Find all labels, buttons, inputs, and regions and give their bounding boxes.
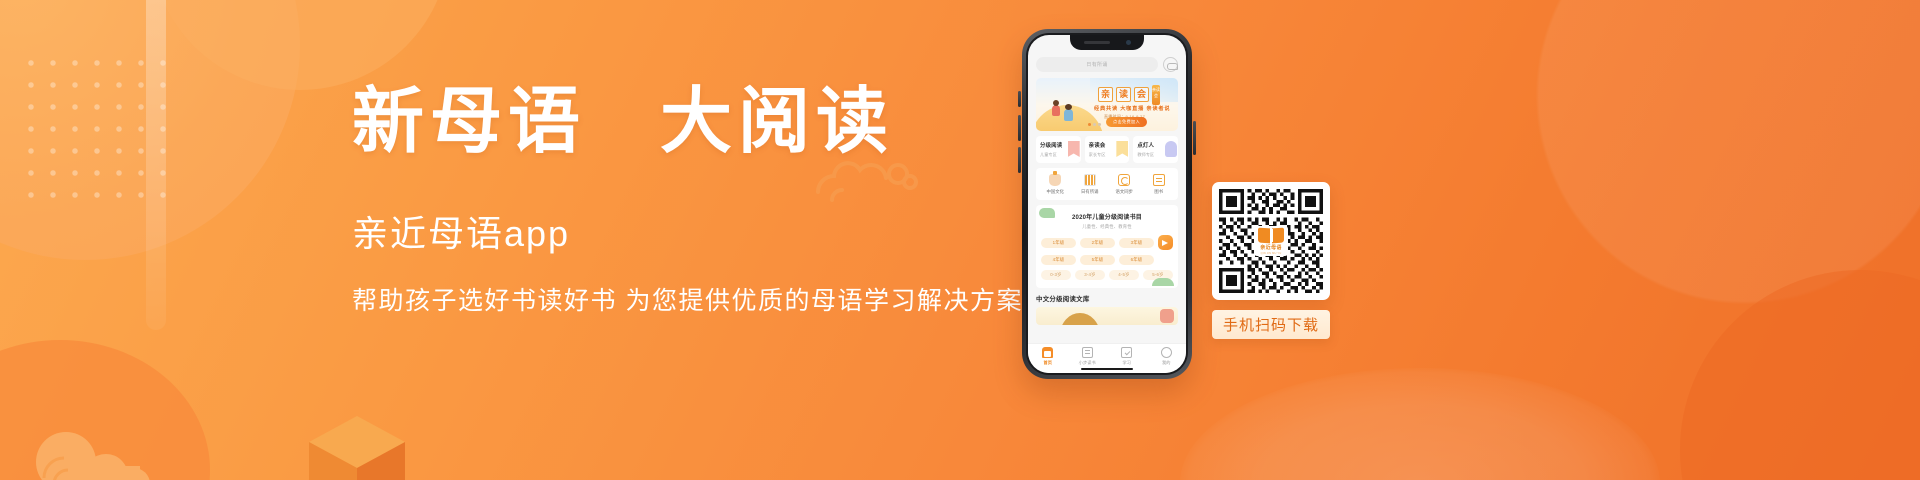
banner-copy: 新母语 大阅读 亲近母语app 帮助孩子选好书读好书 为您提供优质的母语学习解决… [352,86,1052,318]
decor-circle-bottom-right [1680,270,1920,480]
tab-label: 学习 [1107,360,1147,366]
qr-block: 亲近母语 QIN JIN MU YU 手机扫码下载 [1212,182,1330,339]
hero-title-char-2: 读 [1116,87,1131,102]
headline: 新母语 大阅读 [352,86,1052,158]
phone-volume-up-button [1018,115,1021,141]
phone-power-button [1193,121,1196,155]
hero-side-tag: 亲读会 [1152,85,1160,105]
quick-link-label: 日有所诵 [1073,189,1108,195]
phone-mute-switch [1018,91,1021,107]
qr-code-image: 亲近母语 QIN JIN MU YU [1219,189,1323,293]
age-chip[interactable]: 3-4岁 [1075,270,1105,280]
lantern-icon [1049,174,1061,186]
grade-chip[interactable]: 2年级 [1080,238,1115,248]
decor-circle-top-left-2 [150,0,450,90]
scan-to-download-button[interactable]: 手机扫码下载 [1212,310,1330,339]
tab-profile[interactable]: 我的 [1147,347,1187,366]
hero-title-char-1: 亲 [1098,87,1113,102]
grade-chip[interactable]: 5年级 [1080,255,1115,265]
app-tab-bar: 首页 小步读书 学习 我的 [1028,343,1186,373]
search-placeholder: 日有所诵 [1086,61,1107,68]
phone-mockup: 日有所诵 亲 读 会 [1022,29,1192,379]
decor-vertical-stripe [146,0,166,330]
category-card-parent-club[interactable]: 亲读会 家长专区 [1085,136,1130,163]
grade-chip[interactable]: 1年级 [1041,238,1076,248]
tab-study[interactable]: 学习 [1107,347,1147,366]
age-chip[interactable]: 4-5岁 [1109,270,1139,280]
user-icon [1161,347,1172,358]
tagline: 帮助孩子选好书读好书 为您提供优质的母语学习解决方案 [352,285,1052,318]
headline-right: 大阅读 [660,82,894,162]
app-home-screen: 日有所诵 亲 读 会 [1028,35,1186,373]
grade-chip[interactable]: 6年级 [1119,255,1154,265]
category-card-teacher[interactable]: 点灯人 教师专区 [1133,136,1178,163]
tab-label: 首页 [1028,360,1068,366]
carousel-dot[interactable] [1098,123,1101,126]
phone-screen: 日有所诵 亲 读 会 [1028,35,1186,373]
decor-ring-right [1510,0,1920,330]
grade-chip[interactable]: 4年级 [1041,255,1076,265]
decor-dot-grid [20,52,170,202]
decor-circle-bottom-left [0,340,210,480]
quick-link-books[interactable]: 图书 [1142,174,1177,195]
decor-ground-glow [1180,368,1660,480]
quick-link-label: 图书 [1142,189,1177,195]
hero-join-button[interactable]: 点击免费加入 [1106,117,1147,127]
section-title-library: 中文分级阅读文库 [1036,294,1178,303]
open-book-icon [1084,174,1096,186]
app-graded-booklist-card: 2020年儿童分级阅读书目 儿童性、经典性、教育性 1年级 2年级 3年级 4年… [1036,205,1178,288]
app-search-row: 日有所诵 [1036,57,1178,72]
brand-pinyin: QIN JIN MU YU [1261,252,1282,255]
hero-child-1 [1052,105,1060,116]
phone-speaker [1084,41,1110,44]
decor-cube [305,410,409,480]
home-indicator [1081,368,1133,371]
quick-link-chinese-culture[interactable]: 中国文化 [1038,174,1073,195]
grade-chip[interactable]: 3年级 [1119,238,1154,248]
phone-bezel: 日有所诵 亲 读 会 [1026,33,1188,375]
phone-notch [1070,35,1144,50]
carousel-dot[interactable] [1088,123,1091,126]
tab-home[interactable]: 首页 [1028,347,1068,366]
booklist-title: 2020年儿童分级阅读书目 [1041,212,1173,221]
phone-front-camera [1126,40,1131,45]
home-icon [1042,347,1053,358]
cloud-icon-bottom-left [30,426,170,480]
brand-name: 亲近母语 [1260,244,1282,251]
carousel-dot[interactable] [1093,123,1096,126]
decor-circle-top-left [0,0,300,260]
app-hero-banner[interactable]: 亲 读 会 亲读会 经典共读 大咖直播 亲读者说 直播时间：9.16-9.27 … [1036,78,1178,131]
quick-link-daily-recitation[interactable]: 日有所诵 [1073,174,1108,195]
hero-title: 亲 读 会 [1098,87,1149,102]
tab-label: 小步读书 [1068,360,1108,366]
books-icon [1153,174,1165,186]
booklist-subtitle: 儿童性、经典性、教育性 [1041,224,1173,230]
brand-logo: 亲近母语 QIN JIN MU YU [1254,226,1288,256]
category-card-graded-reading[interactable]: 分级阅读 儿童专区 [1036,136,1081,163]
headline-left: 新母语 [352,82,586,162]
grade-row-2: 4年级 5年级 6年级 [1041,255,1173,265]
promo-banner: 新母语 大阅读 亲近母语app 帮助孩子选好书读好书 为您提供优质的母语学习解决… [0,0,1920,480]
search-input[interactable]: 日有所诵 [1036,57,1158,72]
play-video-button[interactable] [1158,235,1173,250]
notebook-icon [1082,347,1093,358]
app-quick-links: 中国文化 日有所诵 语文同步 图书 [1036,168,1178,200]
qr-code-card[interactable]: 亲近母语 QIN JIN MU YU [1212,182,1330,300]
hero-carousel-dots[interactable] [1088,123,1101,126]
library-preview-card[interactable] [1036,307,1178,325]
sync-icon [1118,174,1130,186]
app-category-cards: 分级阅读 儿童专区 亲读会 家长专区 点灯人 教师专区 [1036,136,1178,163]
subheadline: 亲近母语app [352,212,1052,255]
person-icon [1165,141,1177,157]
checklist-icon [1121,347,1132,358]
message-icon[interactable] [1163,57,1178,72]
tab-reading[interactable]: 小步读书 [1068,347,1108,366]
hero-child-2 [1064,109,1073,121]
phone-volume-down-button [1018,147,1021,173]
open-book-logo-icon [1258,228,1284,243]
quick-link-label: 中国文化 [1038,189,1073,195]
quick-link-label: 语文同步 [1107,189,1142,195]
age-chip[interactable]: 0-3岁 [1041,270,1071,280]
quick-link-textbook-sync[interactable]: 语文同步 [1107,174,1142,195]
leaf-decor-icon [1152,278,1174,286]
age-row: 0-3岁 3-4岁 4-5岁 5-6岁 [1041,270,1173,280]
leaf-decor-icon [1039,208,1055,218]
hero-title-char-3: 会 [1134,87,1149,102]
hero-subtitle: 经典共读 大咖直播 亲读者说 [1094,105,1170,112]
tab-label: 我的 [1147,360,1187,366]
grade-row-1: 1年级 2年级 3年级 [1041,235,1173,250]
